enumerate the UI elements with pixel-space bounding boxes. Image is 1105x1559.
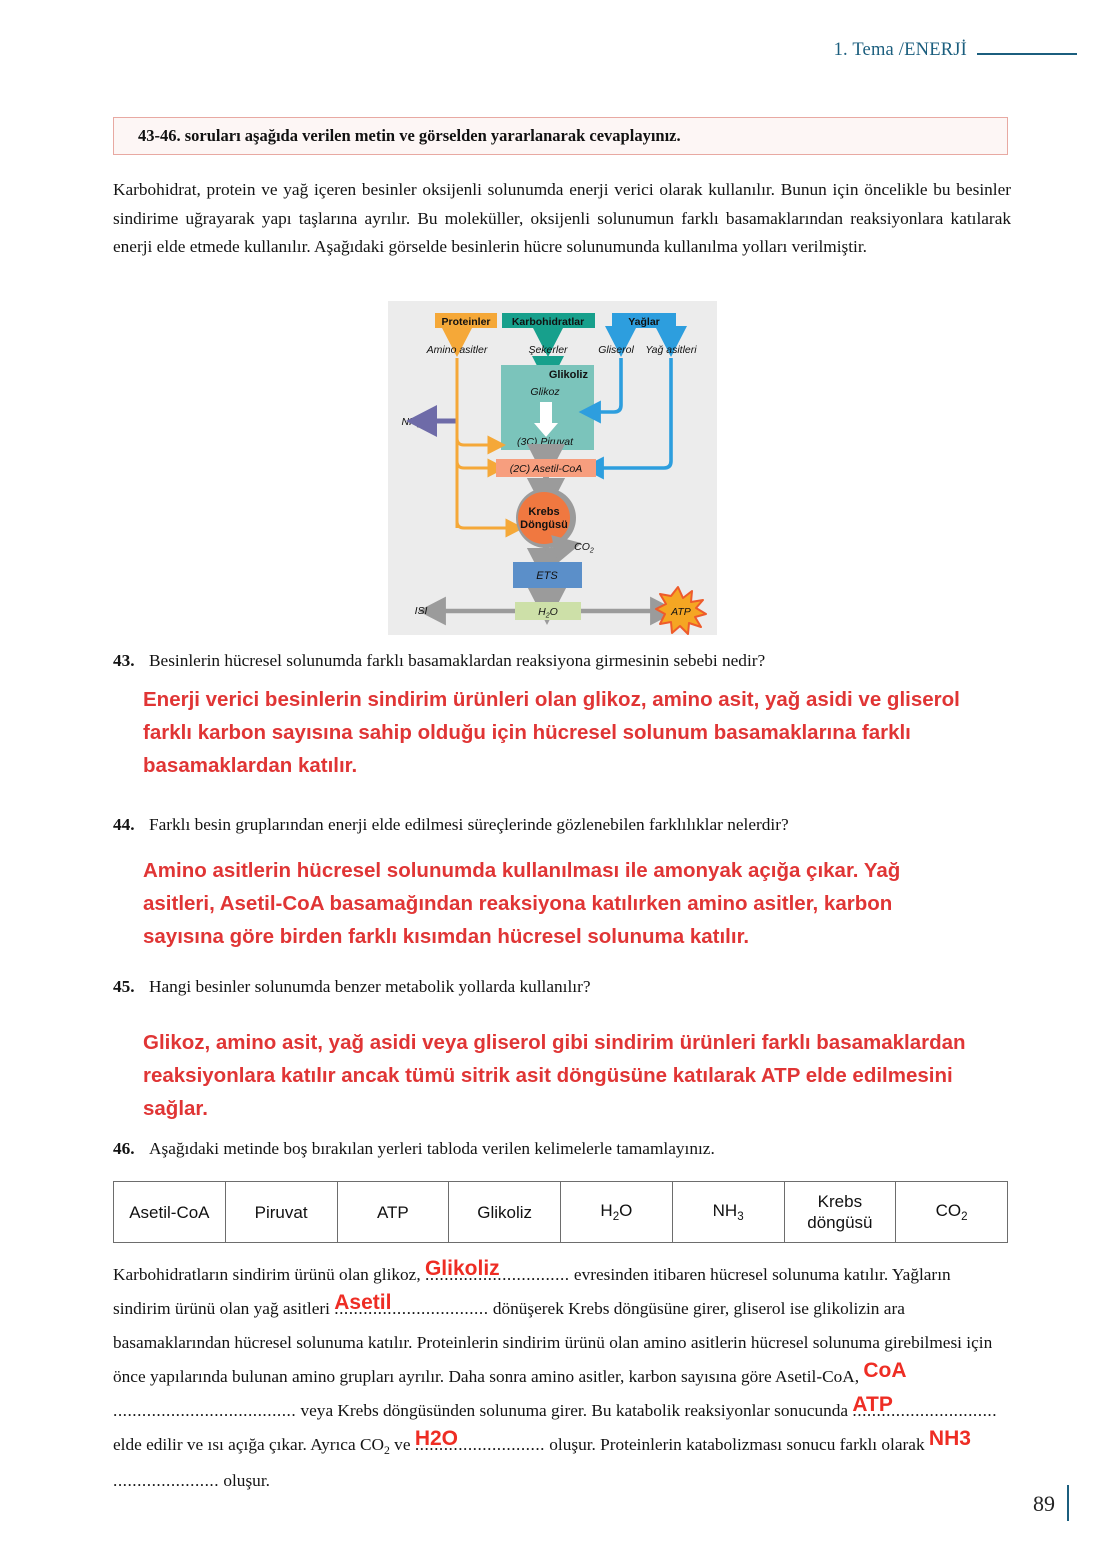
cloze-text-5: elde edilir ve ısı açığa çıkar. Ayrıca C… (113, 1435, 384, 1454)
atp-label: ATP (670, 606, 691, 618)
question-45-prompt: Hangi besinler solunumda benzer metaboli… (149, 974, 1011, 1000)
glikoz-label: Glikoz (530, 386, 560, 398)
answer-45: Glikoz, amino asit, yağ asidi veya glise… (143, 1026, 1013, 1125)
question-43-number: 43. (113, 648, 149, 674)
h2o-tail: O (619, 1201, 632, 1220)
nh3-sub: 3 (737, 1211, 743, 1223)
question-44: 44. Farklı besin gruplarından enerji eld… (113, 812, 1011, 838)
instruction-banner: 43-46. soruları aşağıda verilen metin ve… (113, 117, 1008, 155)
instruction-text: 43-46. soruları aşağıda verilen metin ve… (138, 126, 681, 146)
header-title: 1. Tema /ENERJİ (834, 40, 967, 61)
cloze-paragraph: Karbohidratların sindirim ürünü olan gli… (113, 1258, 1011, 1498)
page-number: 89 (1033, 1491, 1055, 1517)
cloze-text-5b: ve (390, 1435, 415, 1454)
word-cell-asetil-coa[interactable]: Asetil-CoA (114, 1182, 226, 1243)
question-44-prompt: Farklı besin gruplarından enerji elde ed… (149, 812, 1011, 838)
sekerler-label: Şekerler (528, 344, 568, 356)
word-cell-co2[interactable]: CO2 (896, 1182, 1008, 1243)
question-43-prompt: Besinlerin hücresel solunumda farklı bas… (149, 648, 1011, 674)
cloze-answer-4[interactable]: ATP (852, 1394, 892, 1415)
word-cell-glikoliz[interactable]: Glikoliz (449, 1182, 561, 1243)
word-cell-nh3[interactable]: NH3 (672, 1182, 784, 1243)
cloze-co2-sub: 2 (384, 1444, 390, 1457)
page-header: 1. Tema /ENERJİ (834, 40, 1077, 61)
word-bank-table: Asetil-CoA Piruvat ATP Glikoliz H2O NH3 … (113, 1181, 1008, 1243)
cloze-answer-5[interactable]: H2O (415, 1428, 458, 1449)
cloze-text-4: veya Krebs döngüsünden solunuma girer. B… (296, 1401, 852, 1420)
footer-rule (1067, 1485, 1069, 1521)
nh3-main: NH (713, 1201, 738, 1220)
co2-main: CO (936, 1201, 962, 1220)
table-row: Asetil-CoA Piruvat ATP Glikoliz H2O NH3 … (114, 1182, 1008, 1243)
question-45: 45. Hangi besinler solunumda benzer meta… (113, 974, 1011, 1000)
word-cell-h2o[interactable]: H2O (561, 1182, 673, 1243)
glikoliz-label: Glikoliz (549, 369, 589, 381)
cloze-text-6: oluşur. Proteinlerin katabolizması sonuc… (545, 1435, 929, 1454)
cloze-dots-3: ...................................... (113, 1401, 296, 1420)
cloze-dots-6: ...................... (113, 1471, 219, 1490)
question-45-number: 45. (113, 974, 149, 1000)
amino-asitler-label: Amino asitler (426, 344, 488, 356)
h2o-main: H (600, 1201, 612, 1220)
intro-paragraph: Karbohidrat, protein ve yağ içeren besin… (113, 176, 1011, 262)
krebs-label-line1: Krebs (528, 506, 559, 518)
asetil-coa-label: (2C) Asetil-CoA (510, 463, 583, 475)
word-cell-krebs-dongusu[interactable]: Krebs döngüsü (784, 1182, 896, 1243)
krebs-label-line2: Döngüsü (520, 519, 568, 531)
yag-asitleri-label: Yağ asitleri (645, 344, 697, 356)
gliserol-label: Gliserol (598, 344, 634, 356)
karbohidratlar-label: Karbohidratlar (512, 316, 584, 328)
cloze-answer-3[interactable]: CoA (863, 1360, 906, 1381)
cellular-respiration-diagram: Proteinler Karbohidratlar Yağlar Amino a… (388, 301, 717, 635)
cloze-text-1: Karbohidratların sindirim ürünü olan gli… (113, 1265, 425, 1284)
word-cell-atp[interactable]: ATP (337, 1182, 449, 1243)
word-cell-piruvat[interactable]: Piruvat (225, 1182, 337, 1243)
h2o-sub: 2 (613, 1211, 619, 1223)
cloze-answer-6[interactable]: NH3 (929, 1428, 971, 1449)
cloze-answer-2[interactable]: Asetil (334, 1292, 391, 1313)
ets-label: ETS (536, 570, 558, 582)
cloze-text-7: oluşur. (219, 1471, 270, 1490)
co2-sub: 2 (961, 1211, 967, 1223)
answer-43: Enerji verici besinlerin sindirim ürünle… (143, 683, 1003, 782)
krebs-circle (518, 492, 570, 544)
piruvat-label: (3C) Piruvat (517, 436, 574, 448)
yaglar-label: Yağlar (628, 316, 660, 328)
proteinler-label: Proteinler (441, 316, 490, 328)
isi-label: ISI (415, 605, 428, 617)
header-rule (977, 53, 1077, 55)
cloze-answer-1[interactable]: Glikoliz (425, 1258, 500, 1279)
question-44-number: 44. (113, 812, 149, 838)
question-46: 46. Aşağıdaki metinde boş bırakılan yerl… (113, 1136, 1011, 1162)
question-46-number: 46. (113, 1136, 149, 1162)
answer-44: Amino asitlerin hücresel solunumda kulla… (143, 854, 975, 953)
question-46-prompt: Aşağıdaki metinde boş bırakılan yerleri … (149, 1136, 1011, 1162)
question-43: 43. Besinlerin hücresel solunumda farklı… (113, 648, 1011, 674)
